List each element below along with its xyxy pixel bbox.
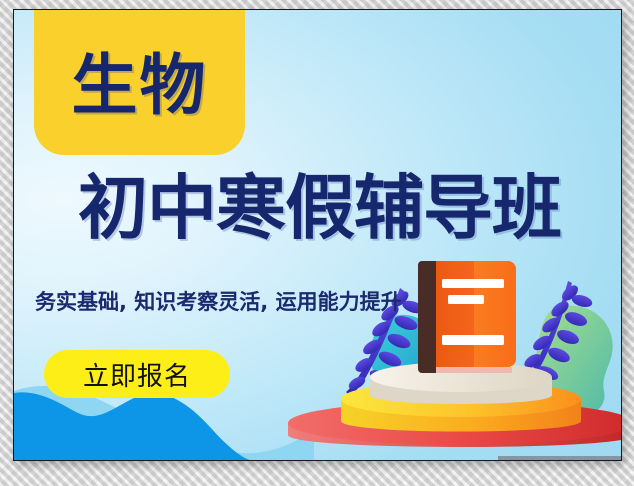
subtitle-text: 务实基础, 知识考察灵活, 运用能力提升 bbox=[35, 286, 402, 316]
book-podium-illustration bbox=[282, 255, 622, 455]
watermark: 培训帮网 bbox=[498, 456, 622, 461]
page-title: 初中寒假辅导班 bbox=[22, 172, 617, 245]
subject-badge-label: 生物 bbox=[72, 53, 208, 119]
enroll-now-label: 立即报名 bbox=[83, 356, 191, 393]
watermark-text: 培训帮网 bbox=[534, 458, 614, 462]
enroll-now-button[interactable]: 立即报名 bbox=[44, 350, 230, 398]
poster-canvas: 生物 初中寒假辅导班 务实基础, 知识考察灵活, 运用能力提升 立即报名 bbox=[13, 9, 622, 461]
subject-badge: 生物 bbox=[34, 9, 245, 155]
orange-book bbox=[418, 261, 516, 373]
